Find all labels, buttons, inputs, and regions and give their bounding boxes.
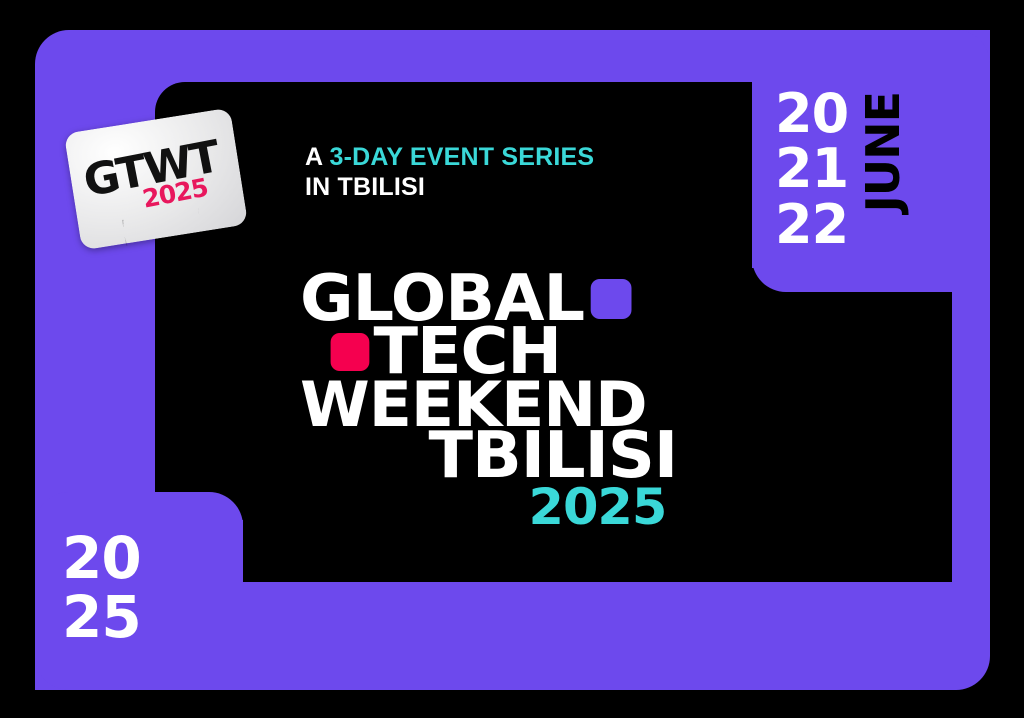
event-date-day-1: 20 [775, 88, 848, 139]
tagline: A 3-DAY EVENT SERIES IN TBILISI [305, 143, 594, 202]
event-date-day-2: 21 [775, 143, 848, 194]
event-date-day-3: 22 [775, 199, 848, 250]
event-year-bottom: 25 [62, 590, 141, 645]
title-line-year: 2025 [300, 484, 728, 530]
purple-square-dot-icon [590, 279, 631, 319]
event-title-lockup: GLOBAL TECH WEEKEND TBILISI 2025 [300, 270, 720, 530]
title-text-year: 2025 [528, 484, 666, 530]
event-year-top: 20 [62, 531, 141, 586]
tagline-line2: IN TBILISI [305, 173, 594, 203]
event-date-block: 20 21 22 JUNE [775, 88, 910, 250]
pink-square-dot-icon [331, 333, 370, 371]
tagline-highlight: 3-DAY EVENT SERIES [329, 143, 594, 171]
event-date-days: 20 21 22 [775, 88, 848, 250]
tagline-prefix: A [305, 143, 329, 171]
event-date-month: JUNE [856, 92, 910, 212]
event-year-block: 20 25 [62, 531, 141, 645]
poster-canvas: A 3-DAY EVENT SERIES IN TBILISI GLOBAL T… [0, 0, 1024, 718]
